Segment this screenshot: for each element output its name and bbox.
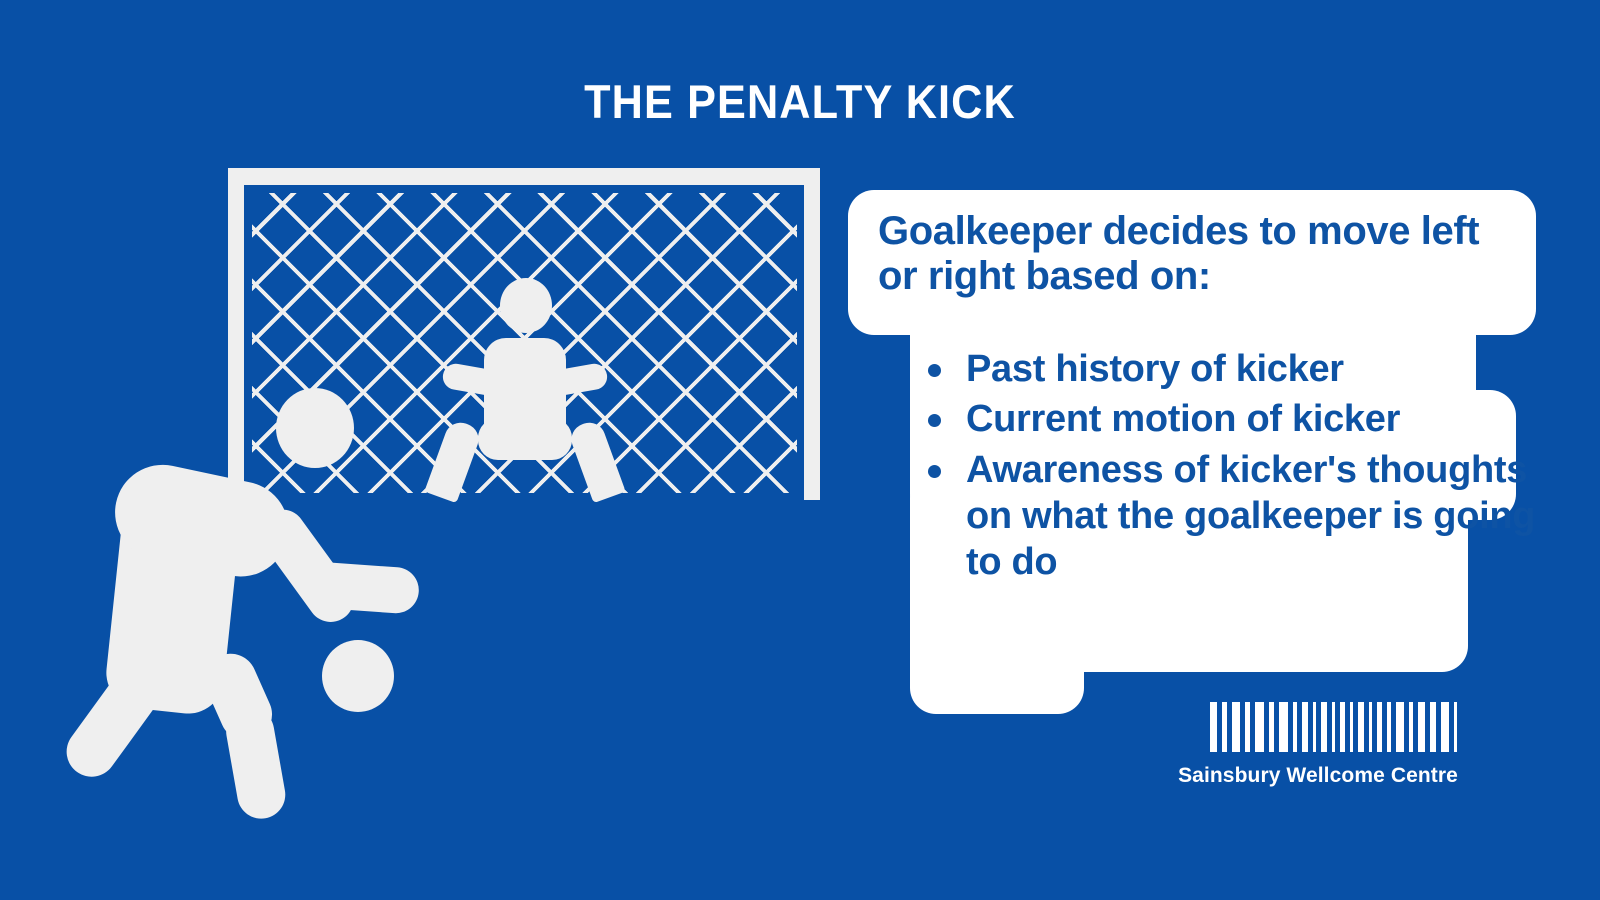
- goalkeeper-leg-right: [567, 418, 626, 503]
- goalkeeper-torso: [484, 338, 566, 448]
- barcode-bar: [1313, 702, 1316, 752]
- goal-crossbar: [228, 168, 820, 185]
- slide-canvas: THE PENALTY KICK Goalkeeper: [0, 0, 1600, 900]
- barcode-bar: [1358, 702, 1364, 752]
- barcode-bar: [1441, 702, 1449, 752]
- list-item: Past history of kicker: [918, 346, 1538, 392]
- barcode-bar: [1430, 702, 1436, 752]
- goalkeeper-head: [500, 278, 552, 333]
- barcode-bar: [1377, 702, 1382, 752]
- soccer-ball: [322, 640, 394, 712]
- list-item-label: Awareness of kicker's thoughts on what t…: [966, 449, 1535, 584]
- barcode-bar: [1232, 702, 1240, 752]
- list-item-label: Current motion of kicker: [966, 398, 1400, 440]
- barcode-icon: [1210, 702, 1462, 752]
- barcode-bar: [1387, 702, 1391, 752]
- kicker-head: [276, 388, 354, 468]
- info-bubble: Goalkeeper decides to move left or right…: [848, 190, 1548, 714]
- barcode-bar: [1350, 702, 1353, 752]
- barcode-bar: [1369, 702, 1372, 752]
- list-item-label: Past history of kicker: [966, 348, 1344, 390]
- barcode-bar: [1269, 702, 1274, 752]
- bullet-dot-icon: [928, 364, 941, 377]
- kicker-arm-lower: [305, 561, 420, 615]
- page-title: THE PENALTY KICK: [64, 78, 1536, 125]
- goal-post-right: [804, 168, 820, 500]
- list-item: Current motion of kicker: [918, 396, 1538, 442]
- sainsbury-wellcome-centre-logo: Sainsbury Wellcome Centre: [1158, 702, 1478, 800]
- barcode-bar: [1321, 702, 1327, 752]
- barcode-bar: [1222, 702, 1227, 752]
- logo-name: Sainsbury Wellcome Centre: [1158, 764, 1478, 788]
- goalkeeper-figure: [444, 278, 624, 500]
- barcode-bar: [1245, 702, 1250, 752]
- barcode-bar: [1340, 702, 1345, 752]
- bubble-text-layer: Goalkeeper decides to move left or right…: [848, 190, 1548, 714]
- barcode-bar: [1454, 702, 1457, 752]
- bullet-dot-icon: [928, 465, 941, 478]
- barcode-bar: [1332, 702, 1335, 752]
- barcode-bar: [1302, 702, 1308, 752]
- bullet-list: Past history of kicker Current motion of…: [918, 346, 1538, 590]
- barcode-bar: [1210, 702, 1217, 752]
- list-item: Awareness of kicker's thoughts on what t…: [918, 447, 1538, 586]
- barcode-bar: [1293, 702, 1297, 752]
- bubble-heading: Goalkeeper decides to move left or right…: [878, 209, 1518, 299]
- barcode-bar: [1255, 702, 1264, 752]
- barcode-bar: [1409, 702, 1413, 752]
- bullet-dot-icon: [928, 414, 941, 427]
- barcode-bar: [1396, 702, 1404, 752]
- barcode-bar: [1279, 702, 1288, 752]
- kicker-leg-front-shin: [222, 704, 289, 823]
- barcode-bar: [1418, 702, 1425, 752]
- kicker-figure: [108, 388, 408, 796]
